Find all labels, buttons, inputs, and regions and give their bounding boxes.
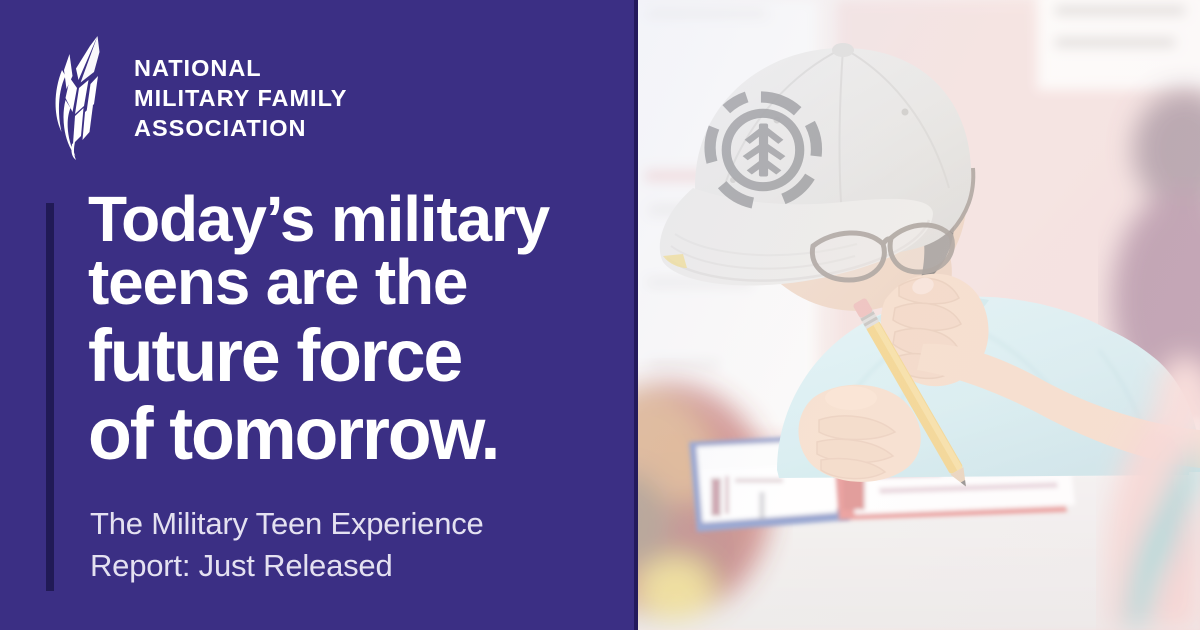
flame-torch-logo-icon bbox=[48, 32, 114, 162]
headline-bold-line-1: future force bbox=[88, 319, 602, 393]
panel-divider-edge bbox=[634, 0, 638, 630]
brand-name-line-1: NATIONAL bbox=[134, 54, 347, 84]
subtitle-line-1: The Military Teen Experience bbox=[90, 503, 630, 545]
classroom-photo bbox=[637, 0, 1200, 630]
left-content-panel: NATIONAL MILITARY FAMILY ASSOCIATION Tod… bbox=[0, 0, 637, 630]
subtitle-line-2: Report: Just Released bbox=[90, 545, 630, 587]
headline-light-line-2: teens are the bbox=[88, 251, 618, 314]
vertical-accent-bar bbox=[46, 203, 54, 591]
headline-light-line-1: Today’s military bbox=[88, 188, 618, 251]
promotional-banner: NATIONAL MILITARY FAMILY ASSOCIATION Tod… bbox=[0, 0, 1200, 630]
brand-logo-lockup[interactable]: NATIONAL MILITARY FAMILY ASSOCIATION bbox=[48, 22, 468, 172]
subtitle-block: The Military Teen Experience Report: Jus… bbox=[90, 503, 630, 587]
brand-wordmark: NATIONAL MILITARY FAMILY ASSOCIATION bbox=[134, 50, 347, 144]
brand-name-line-2: MILITARY FAMILY bbox=[134, 84, 347, 114]
headline-bold-line-2: of tomorrow. bbox=[88, 397, 602, 471]
headline-block: Today’s military teens are the future fo… bbox=[88, 188, 618, 471]
brand-name-line-3: ASSOCIATION bbox=[134, 114, 347, 144]
